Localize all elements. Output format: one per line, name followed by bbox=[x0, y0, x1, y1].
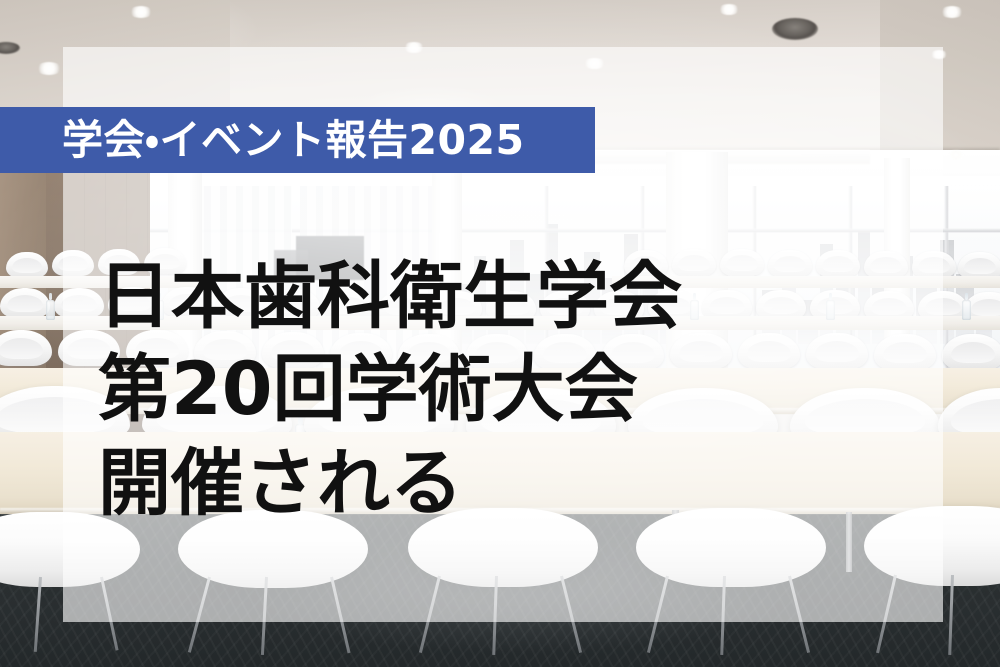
headline-line-3: 開催される bbox=[98, 437, 898, 530]
downlight-icon bbox=[940, 6, 964, 18]
category-badge-label: 学会・イベント報告2025 bbox=[62, 120, 525, 161]
downlight-icon bbox=[946, 150, 966, 160]
downlight-icon bbox=[36, 62, 62, 75]
category-badge: 学会・イベント報告2025 bbox=[0, 107, 595, 173]
water-bottle bbox=[46, 300, 55, 320]
eyecatch-thumbnail: 学会・イベント報告2025 日本歯科衛生学会 第20回学術大会 開催される bbox=[0, 0, 1000, 667]
downlight-icon bbox=[718, 4, 740, 15]
headline-line-1: 日本歯科衛生学会 bbox=[98, 250, 898, 343]
downlight-icon bbox=[129, 6, 153, 18]
ceiling-vent-icon bbox=[772, 18, 818, 40]
page-title: 日本歯科衛生学会 第20回学術大会 開催される bbox=[98, 250, 898, 530]
headline-line-2: 第20回学術大会 bbox=[98, 343, 898, 436]
water-bottle bbox=[962, 300, 971, 320]
